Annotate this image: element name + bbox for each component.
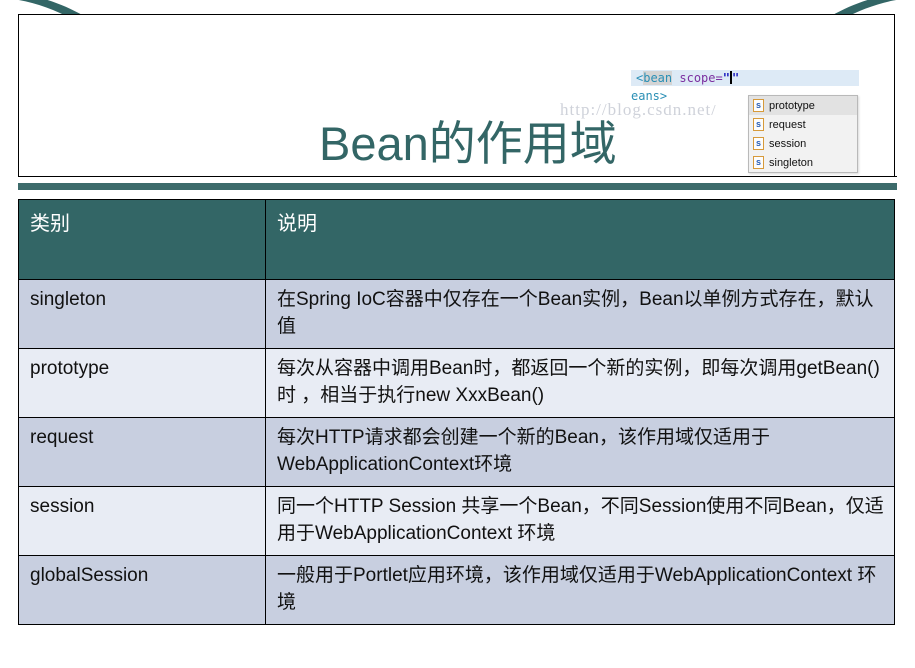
- cell-category-globalsession: globalSession: [19, 555, 266, 624]
- autocomplete-item-prototype[interactable]: s prototype: [749, 96, 857, 115]
- table-row: request 每次HTTP请求都会创建一个新的Bean，该作用域仅适用于Web…: [19, 417, 895, 486]
- cell-description-globalsession: 一般用于Portlet应用环境，该作用域仅适用于WebApplicationCo…: [266, 555, 895, 624]
- autocomplete-item-label: request: [769, 119, 806, 131]
- code-line-eans: eans>: [631, 88, 667, 104]
- autocomplete-item-label: session: [769, 138, 806, 150]
- autocomplete-item-label: prototype: [769, 100, 815, 112]
- code-line-bean-scope: <bean scope="": [631, 70, 859, 86]
- cell-description-prototype: 每次从容器中调用Bean时，都返回一个新的实例，即每次调用getBean()时 …: [266, 348, 895, 417]
- table-row: prototype 每次从容器中调用Bean时，都返回一个新的实例，即每次调用g…: [19, 348, 895, 417]
- title-accent-bar: [18, 183, 897, 190]
- code-token-tag-bean: bean: [643, 71, 672, 85]
- cell-description-singleton: 在Spring IoC容器中仅存在一个Bean实例，Bean以单例方式存在，默认…: [266, 280, 895, 349]
- cell-category-session: session: [19, 486, 266, 555]
- code-token-attr-scope: scope: [679, 71, 715, 85]
- bean-scope-table: 类别 说明 singleton 在Spring IoC容器中仅存在一个Bean实…: [18, 199, 895, 625]
- cell-description-request: 每次HTTP请求都会创建一个新的Bean，该作用域仅适用于WebApplicat…: [266, 417, 895, 486]
- code-token-equals: =: [716, 71, 723, 85]
- schema-s-icon: s: [753, 137, 764, 150]
- cell-description-session: 同一个HTTP Session 共享一个Bean，不同Session使用不同Be…: [266, 486, 895, 555]
- autocomplete-item-label: singleton: [769, 157, 813, 169]
- table-row: session 同一个HTTP Session 共享一个Bean，不同Sessi…: [19, 486, 895, 555]
- cell-category-prototype: prototype: [19, 348, 266, 417]
- schema-s-icon: s: [753, 156, 764, 169]
- schema-s-icon: s: [753, 118, 764, 131]
- autocomplete-item-singleton[interactable]: s singleton: [749, 153, 857, 172]
- page-title: Bean的作用域: [319, 120, 617, 167]
- table-row: globalSession 一般用于Portlet应用环境，该作用域仅适用于We…: [19, 555, 895, 624]
- table-row: singleton 在Spring IoC容器中仅存在一个Bean实例，Bean…: [19, 280, 895, 349]
- autocomplete-item-request[interactable]: s request: [749, 115, 857, 134]
- column-header-description: 说明: [266, 200, 895, 280]
- code-token-quote-close: ": [732, 71, 739, 85]
- autocomplete-popup[interactable]: s prototype s request s session s single…: [748, 95, 858, 173]
- cell-category-request: request: [19, 417, 266, 486]
- table-header-row: 类别 说明: [19, 200, 895, 280]
- autocomplete-item-session[interactable]: s session: [749, 134, 857, 153]
- code-editor-screenshot: <bean scope="" eans> s prototype s reque…: [631, 63, 895, 179]
- cell-category-singleton: singleton: [19, 280, 266, 349]
- schema-s-icon: s: [753, 99, 764, 112]
- code-token-quote-open: ": [723, 71, 730, 85]
- column-header-category: 类别: [19, 200, 266, 280]
